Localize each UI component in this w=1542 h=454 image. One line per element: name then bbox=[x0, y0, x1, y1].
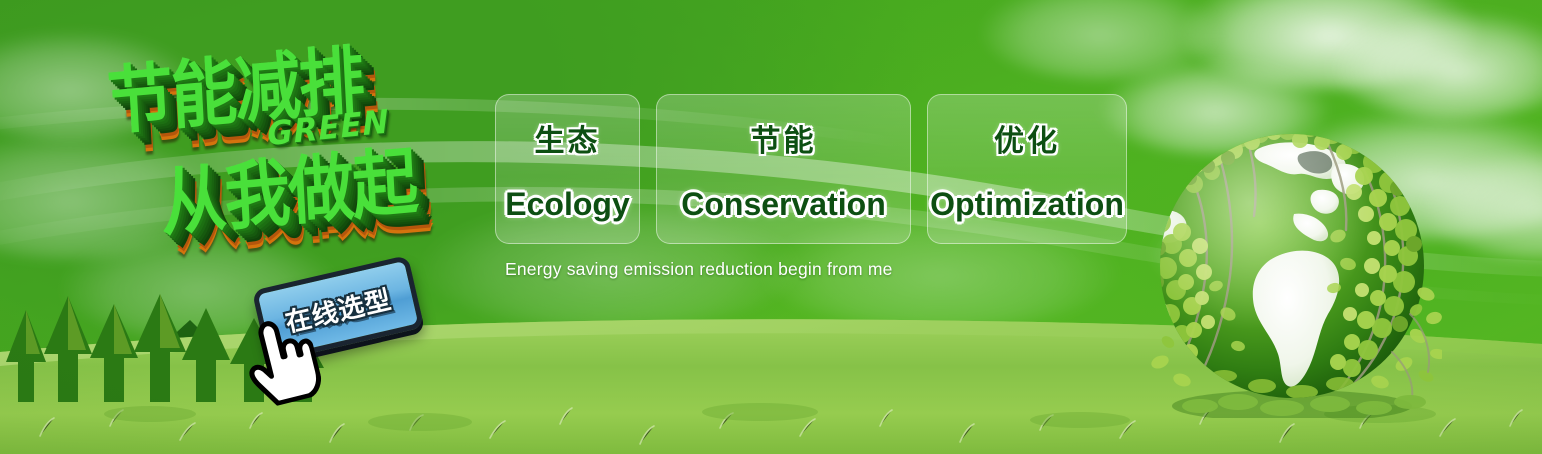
green-energy-banner: 节能减排 GREEN 从我做起 在线选型 生态 Ecology 节能 Conse… bbox=[0, 0, 1542, 454]
vignette-overlay bbox=[0, 0, 1542, 454]
